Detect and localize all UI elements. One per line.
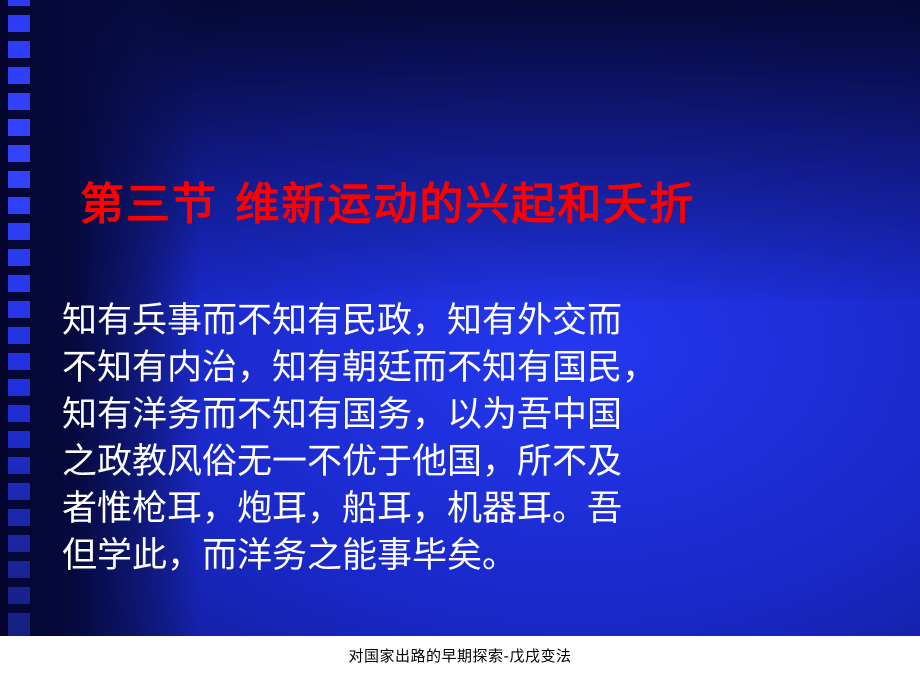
slide-title: 第三节 维新运动的兴起和夭折 [80, 168, 880, 232]
slide: 第三节 维新运动的兴起和夭折 知有兵事而不知有民政，知有外交而 不知有内治，知有… [0, 0, 920, 690]
body-line: 不知有内治，知有朝廷而不知有国民， [62, 345, 862, 392]
left-accent-ticks [8, 0, 30, 636]
body-line: 知有兵事而不知有民政，知有外交而 [62, 298, 862, 345]
body-line: 但学此，而洋务之能事毕矣。 [62, 533, 862, 580]
footer-caption: 对国家出路的早期探索-戊戌变法 [0, 645, 920, 666]
slide-body: 知有兵事而不知有民政，知有外交而 不知有内治，知有朝廷而不知有国民， 知有洋务而… [62, 298, 862, 580]
body-line: 知有洋务而不知有国务，以为吾中国 [62, 392, 862, 439]
body-line: 者惟枪耳，炮耳，船耳，机器耳。吾 [62, 486, 862, 533]
body-line: 之政教风俗无一不优于他国，所不及 [62, 439, 862, 486]
